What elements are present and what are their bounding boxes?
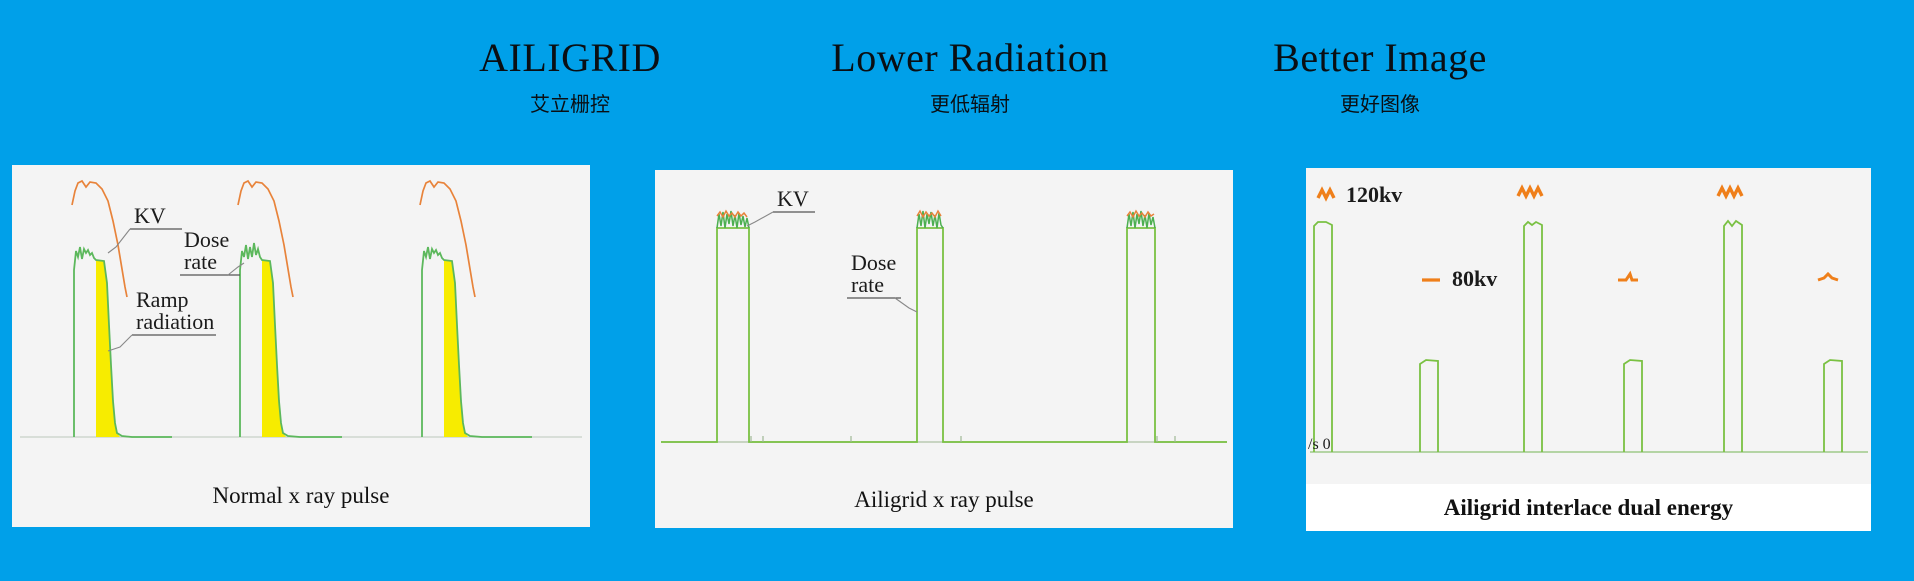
panel-caption-ailigrid: Ailigrid x ray pulse [655, 472, 1233, 528]
kv-label-text: KV [134, 203, 166, 228]
kv-leader-line [747, 212, 773, 226]
header-title-zh-2: 更好图像 [1040, 94, 1720, 114]
dose-rate-leader-line [228, 263, 244, 275]
kv-label-text: KV [777, 186, 809, 211]
dose-rate-square-pulse-3 [1055, 228, 1227, 442]
panel-normal-x-ray-pulse: KV Dose rate Ramp radiation Normal x ray… [12, 165, 590, 527]
chart-normal-x-ray-pulse: KV Dose rate Ramp radiation [12, 165, 590, 465]
dose-rate-label-line2: rate [851, 272, 884, 297]
header-banner: AILIGRID 艾立栅控 Lower Radiation 更低辐射 Bette… [0, 0, 1914, 155]
chart-ailigrid-interlace-dual-energy: 120kv 80kv /s 0 [1306, 168, 1871, 484]
dose-rate-square-pulse-1 [661, 228, 845, 442]
annotation-kv: KV [108, 203, 182, 253]
panel-caption-normal: Normal x ray pulse [12, 465, 590, 527]
ramp-leader-line [108, 335, 132, 351]
header-title-en-2: Better Image [1040, 38, 1720, 78]
dose-rate-label-line2: rate [184, 249, 217, 274]
legend-120kv-label: 120kv [1346, 182, 1402, 207]
header-column-better-image: Better Image 更好图像 [1040, 38, 1720, 114]
plot-background [1306, 168, 1871, 484]
dose-rate-leader-line [895, 298, 917, 312]
chart-ailigrid-x-ray-pulse: KV Dose rate [655, 170, 1233, 472]
panel-caption-dual-energy: Ailigrid interlace dual energy [1306, 484, 1871, 531]
annotation-kv: KV [747, 186, 815, 226]
annotation-dose-rate: Dose rate [180, 227, 244, 275]
panel-ailigrid-interlace-dual-energy: 120kv 80kv /s 0 Ailigrid interlace dual … [1306, 168, 1871, 531]
dose-rate-trace-2 [240, 243, 342, 437]
kv-noise-top-2 [917, 211, 941, 217]
dose-rate-trace-3 [422, 247, 532, 437]
annotation-ramp-radiation: Ramp radiation [108, 287, 216, 351]
annotation-dose-rate: Dose rate [847, 250, 917, 312]
legend-80kv-label: 80kv [1452, 266, 1497, 291]
ramp-label-line2: radiation [136, 309, 214, 334]
axis-origin-label: /s 0 [1308, 436, 1331, 453]
panel-ailigrid-x-ray-pulse: KV Dose rate Ailigrid x ray pulse [655, 170, 1233, 528]
